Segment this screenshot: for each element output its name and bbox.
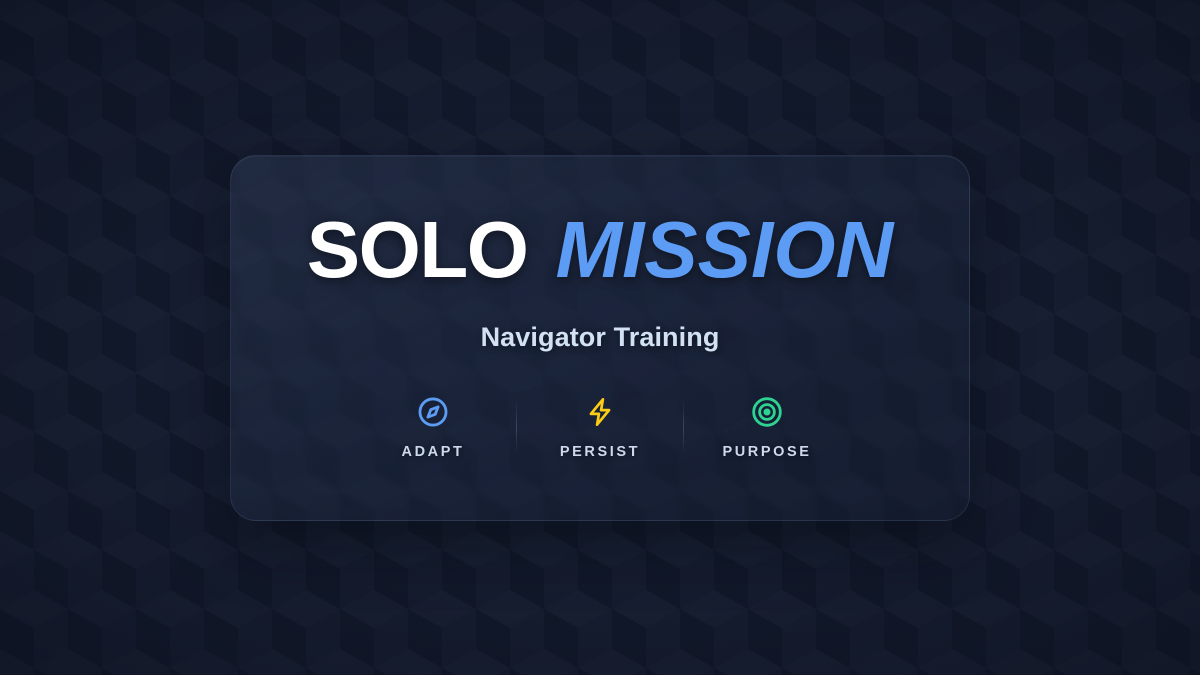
pillar-divider-1 <box>516 401 517 453</box>
stage: SOLO MISSION Navigator Training ADAPT <box>0 0 1200 675</box>
hero-card: SOLO MISSION Navigator Training ADAPT <box>230 155 970 521</box>
pillar-divider-2 <box>683 401 684 453</box>
hero-title: SOLO MISSION <box>307 212 894 288</box>
pillar-label-adapt: ADAPT <box>402 444 465 460</box>
target-icon <box>750 395 784 429</box>
pillar-persist[interactable]: PERSIST <box>533 395 667 460</box>
lightning-bolt-icon <box>583 395 617 429</box>
title-primary-word: SOLO <box>307 212 528 288</box>
pillar-label-purpose: PURPOSE <box>722 444 811 460</box>
pillar-list: ADAPT PERSIST <box>366 395 834 460</box>
title-accent-word: MISSION <box>555 212 893 288</box>
pillar-label-persist: PERSIST <box>560 444 640 460</box>
pillar-adapt[interactable]: ADAPT <box>366 395 500 460</box>
hero-subtitle: Navigator Training <box>481 322 720 353</box>
compass-icon <box>416 395 450 429</box>
pillar-purpose[interactable]: PURPOSE <box>700 395 834 460</box>
